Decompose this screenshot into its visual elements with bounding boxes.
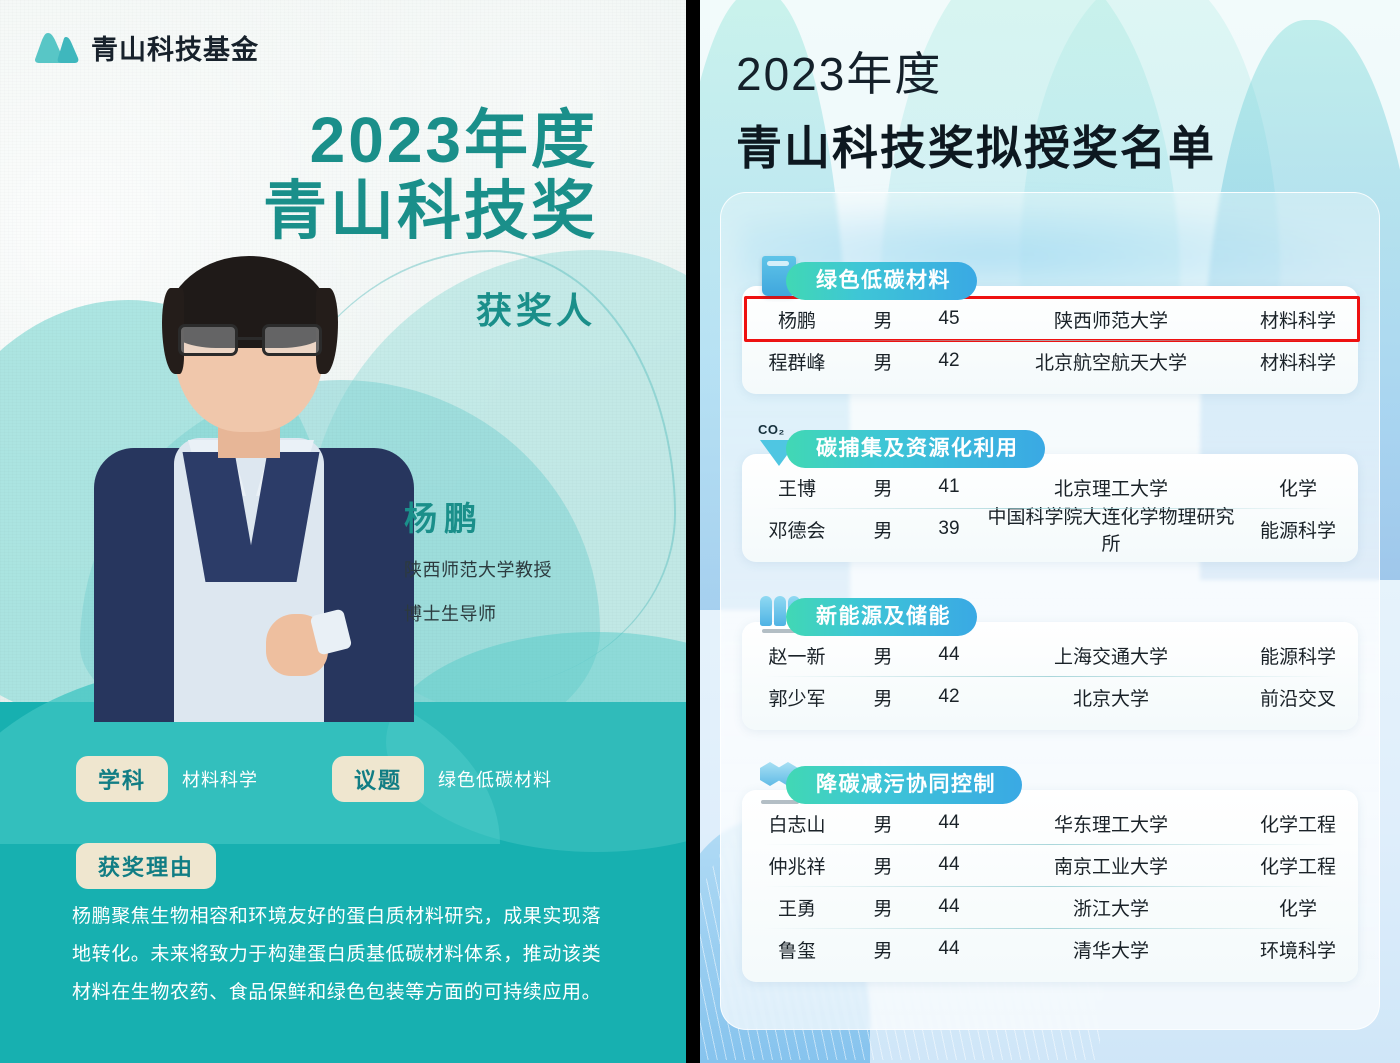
section-badge-label: 绿色低碳材料 <box>786 262 977 300</box>
cell-sex: 男 <box>852 348 914 375</box>
cell-sex: 男 <box>852 810 914 837</box>
tag-value-discipline: 材料科学 <box>182 766 258 792</box>
cell-sex: 男 <box>852 306 914 333</box>
cell-age: 39 <box>914 518 984 540</box>
cell-sex: 男 <box>852 936 914 963</box>
cell-age: 41 <box>914 476 984 498</box>
cell-age: 44 <box>914 938 984 960</box>
cell-age: 42 <box>914 686 984 708</box>
cell-institution: 上海交通大学 <box>984 642 1238 669</box>
cell-institution: 浙江大学 <box>984 894 1238 921</box>
awardee-info: 杨鹏 陕西师范大学教授 博士生导师 <box>404 492 552 626</box>
mountain-logo-icon <box>34 31 80 65</box>
cell-age: 42 <box>914 350 984 372</box>
cell-age: 44 <box>914 896 984 918</box>
cell-institution: 陕西师范大学 <box>984 306 1238 333</box>
table-row[interactable]: 杨鹏 男 45 陕西师范大学 材料科学 <box>742 298 1358 340</box>
section-carbon-capture-utilization: CO₂ 碳捕集及资源化利用 王博 男 41 北京理工大学 化学 邓德会 <box>742 424 1358 562</box>
cell-name: 赵一新 <box>742 642 852 669</box>
table-row[interactable]: 仲兆祥 男 44 南京工业大学 化学工程 <box>742 844 1358 886</box>
list-header-year: 2023年度 <box>736 38 1216 104</box>
cell-name: 邓德会 <box>742 516 852 543</box>
cell-field: 化学 <box>1238 474 1358 501</box>
table-row[interactable]: 赵一新 男 44 上海交通大学 能源科学 <box>742 634 1358 676</box>
section-badge-label: 新能源及储能 <box>786 598 977 636</box>
table-row[interactable]: 邓德会 男 39 中国科学院大连化学物理研究所 能源科学 <box>742 508 1358 550</box>
cell-institution: 南京工业大学 <box>984 852 1238 879</box>
section-table: 白志山 男 44 华东理工大学 化学工程 仲兆祥 男 44 南京工业大学 化学工… <box>742 790 1358 982</box>
cell-age: 44 <box>914 812 984 834</box>
brand-logo-text: 青山科技基金 <box>91 28 259 67</box>
cell-age: 44 <box>914 644 984 666</box>
cell-field: 环境科学 <box>1238 936 1358 963</box>
cell-sex: 男 <box>852 516 914 543</box>
poster-title-year: 2023年度 <box>263 108 598 173</box>
cell-sex: 男 <box>852 894 914 921</box>
awardee-portrait <box>78 262 418 722</box>
cell-age: 45 <box>914 308 984 330</box>
cell-name: 王勇 <box>742 894 852 921</box>
table-row[interactable]: 鲁玺 男 44 清华大学 环境科学 <box>742 928 1358 970</box>
list-header-title: 青山科技奖拟授奖名单 <box>736 112 1216 178</box>
award-reason-text: 杨鹏聚焦生物相容和环境友好的蛋白质材料研究，成果实现落地转化。未来将致力于构建蛋… <box>72 898 620 1012</box>
cell-name: 郭少军 <box>742 684 852 711</box>
tag-label-discipline: 学科 <box>76 756 168 802</box>
cell-institution: 北京理工大学 <box>984 474 1238 501</box>
portrait-glasses-icon <box>178 324 322 358</box>
cell-age: 44 <box>914 854 984 876</box>
tag-value-topic: 绿色低碳材料 <box>438 766 552 792</box>
award-reason-label: 获奖理由 <box>76 843 216 889</box>
co2-label: CO₂ <box>758 422 785 437</box>
cell-sex: 男 <box>852 852 914 879</box>
list-header: 2023年度 青山科技奖拟授奖名单 <box>736 38 1216 178</box>
section-header: 新能源及储能 <box>742 592 1358 636</box>
cell-name: 鲁玺 <box>742 936 852 963</box>
cell-institution: 中国科学院大连化学物理研究所 <box>984 502 1238 556</box>
award-sections: 绿色低碳材料 杨鹏 男 45 陕西师范大学 材料科学 程群峰 男 42 北京航空… <box>720 192 1380 1012</box>
cell-field: 前沿交叉 <box>1238 684 1358 711</box>
cell-sex: 男 <box>852 474 914 501</box>
cell-name: 王博 <box>742 474 852 501</box>
cell-name: 白志山 <box>742 810 852 837</box>
section-carbon-pollution-control: 降碳减污协同控制 白志山 男 44 华东理工大学 化学工程 仲兆祥 男 44 南… <box>742 760 1358 982</box>
cell-field: 能源科学 <box>1238 516 1358 543</box>
awardee-role-secondary: 博士生导师 <box>404 600 552 626</box>
cell-field: 化学工程 <box>1238 810 1358 837</box>
section-table: 王博 男 41 北京理工大学 化学 邓德会 男 39 中国科学院大连化学物理研究… <box>742 454 1358 562</box>
section-table: 杨鹏 男 45 陕西师范大学 材料科学 程群峰 男 42 北京航空航天大学 材料… <box>742 286 1358 394</box>
cell-institution: 华东理工大学 <box>984 810 1238 837</box>
section-table: 赵一新 男 44 上海交通大学 能源科学 郭少军 男 42 北京大学 前沿交叉 <box>742 622 1358 730</box>
cell-name: 程群峰 <box>742 348 852 375</box>
poster-stage: 青山科技基金 2023年度 青山科技奖 获奖人 <box>0 0 1400 1063</box>
table-row[interactable]: 白志山 男 44 华东理工大学 化学工程 <box>742 802 1358 844</box>
section-header: 绿色低碳材料 <box>742 256 1358 300</box>
section-header: CO₂ 碳捕集及资源化利用 <box>742 424 1358 468</box>
left-award-poster: 青山科技基金 2023年度 青山科技奖 获奖人 <box>0 0 686 1063</box>
table-row[interactable]: 程群峰 男 42 北京航空航天大学 材料科学 <box>742 340 1358 382</box>
cell-institution: 北京大学 <box>984 684 1238 711</box>
table-row[interactable]: 王勇 男 44 浙江大学 化学 <box>742 886 1358 928</box>
cell-field: 材料科学 <box>1238 348 1358 375</box>
cell-field: 能源科学 <box>1238 642 1358 669</box>
poster-title-award: 青山科技奖 <box>263 179 598 244</box>
awardee-tags: 学科 材料科学 议题 绿色低碳材料 <box>76 756 552 802</box>
cell-name: 仲兆祥 <box>742 852 852 879</box>
cell-name: 杨鹏 <box>742 306 852 333</box>
awardee-name: 杨鹏 <box>404 492 552 540</box>
poster-subtitle-awardee: 获奖人 <box>476 282 596 334</box>
section-new-energy-storage: 新能源及储能 赵一新 男 44 上海交通大学 能源科学 郭少军 男 42 北京大… <box>742 592 1358 730</box>
section-header: 降碳减污协同控制 <box>742 760 1358 804</box>
cell-sex: 男 <box>852 684 914 711</box>
cell-field: 材料科学 <box>1238 306 1358 333</box>
section-badge-label: 碳捕集及资源化利用 <box>786 430 1045 468</box>
panel-divider <box>686 0 700 1063</box>
awardee-role-primary: 陕西师范大学教授 <box>404 556 552 582</box>
cell-institution: 清华大学 <box>984 936 1238 963</box>
brand-logo: 青山科技基金 <box>34 28 259 67</box>
table-row[interactable]: 郭少军 男 42 北京大学 前沿交叉 <box>742 676 1358 718</box>
tag-label-topic: 议题 <box>332 756 424 802</box>
right-list-poster: 2023年度 青山科技奖拟授奖名单 绿色低碳材料 杨鹏 男 45 <box>700 0 1400 1063</box>
cell-field: 化学工程 <box>1238 852 1358 879</box>
cell-sex: 男 <box>852 642 914 669</box>
cell-field: 化学 <box>1238 894 1358 921</box>
cell-institution: 北京航空航天大学 <box>984 348 1238 375</box>
poster-title: 2023年度 青山科技奖 <box>263 108 598 245</box>
section-badge-label: 降碳减污协同控制 <box>786 766 1022 804</box>
section-green-low-carbon-materials: 绿色低碳材料 杨鹏 男 45 陕西师范大学 材料科学 程群峰 男 42 北京航空… <box>742 256 1358 394</box>
